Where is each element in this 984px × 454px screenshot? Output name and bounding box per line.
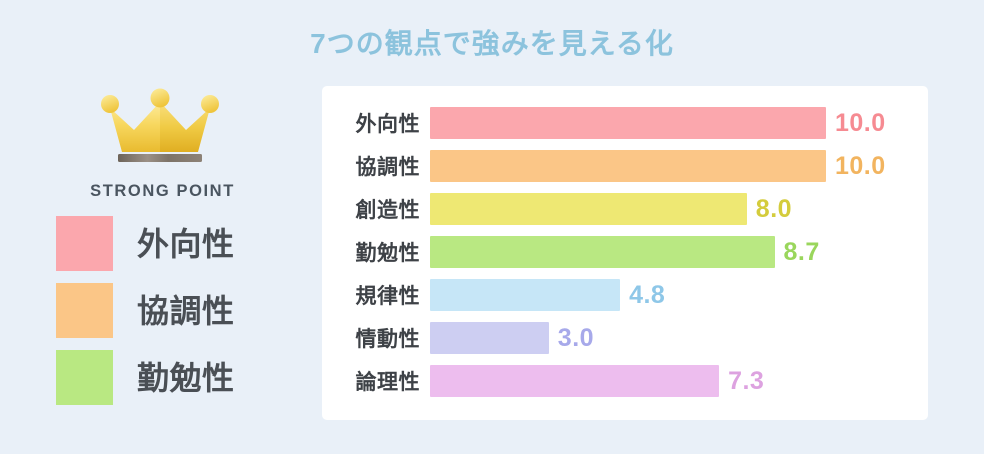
bar-row: 勤勉性8.7 [322, 233, 928, 271]
bar-fill [430, 365, 719, 397]
bar-category-label: 論理性 [322, 366, 430, 396]
bar-category-label: 創造性 [322, 194, 430, 224]
infographic-page: 7つの観点で強みを見える化 [0, 0, 984, 454]
legend-item-label: 協調性 [137, 294, 235, 328]
bar-category-label: 協調性 [322, 151, 430, 181]
strong-point-panel: STRONG POINT 外向性 協調性 勤勉性 [30, 88, 295, 418]
bar-track: 3.0 [430, 319, 928, 357]
bar-row: 創造性8.0 [322, 190, 928, 228]
legend-item: 外向性 [30, 216, 295, 271]
bar-value-label: 8.0 [756, 196, 792, 222]
legend-item: 勤勉性 [30, 350, 295, 405]
legend-swatch [56, 350, 113, 405]
legend-item-label: 勤勉性 [137, 361, 235, 395]
bar-track: 4.8 [430, 276, 928, 314]
bar-fill [430, 150, 826, 182]
bar-fill [430, 279, 620, 311]
legend-swatch [56, 216, 113, 271]
legend-item-label: 外向性 [137, 227, 235, 261]
bar-value-label: 8.7 [784, 239, 820, 265]
bar-row: 情動性3.0 [322, 319, 928, 357]
bar-chart-card: 外向性10.0協調性10.0創造性8.0勤勉性8.7規律性4.8情動性3.0論理… [322, 86, 928, 420]
bar-value-label: 7.3 [728, 368, 764, 394]
strong-point-badge: STRONG POINT [30, 182, 295, 201]
bar-row: 協調性10.0 [322, 147, 928, 185]
page-title: 7つの観点で強みを見える化 [0, 26, 984, 62]
bar-category-label: 規律性 [322, 280, 430, 310]
bar-row: 論理性7.3 [322, 362, 928, 400]
bar-fill [430, 193, 747, 225]
bar-track: 7.3 [430, 362, 928, 400]
legend-item: 協調性 [30, 283, 295, 338]
legend-swatch [56, 283, 113, 338]
bar-track: 8.0 [430, 190, 928, 228]
legend: 外向性 協調性 勤勉性 [30, 216, 295, 405]
bar-fill [430, 236, 775, 268]
bar-row: 規律性4.8 [322, 276, 928, 314]
bar-value-label: 3.0 [558, 325, 594, 351]
bar-value-label: 10.0 [835, 110, 886, 136]
bar-value-label: 4.8 [629, 282, 665, 308]
bar-track: 10.0 [430, 147, 928, 185]
bar-value-label: 10.0 [835, 153, 886, 179]
bar-category-label: 勤勉性 [322, 237, 430, 267]
crown-icon [98, 88, 222, 166]
bar-chart: 外向性10.0協調性10.0創造性8.0勤勉性8.7規律性4.8情動性3.0論理… [322, 104, 928, 400]
bar-category-label: 情動性 [322, 323, 430, 353]
bar-fill [430, 322, 549, 354]
bar-category-label: 外向性 [322, 108, 430, 138]
bar-track: 10.0 [430, 104, 928, 142]
bar-row: 外向性10.0 [322, 104, 928, 142]
bar-track: 8.7 [430, 233, 928, 271]
bar-fill [430, 107, 826, 139]
